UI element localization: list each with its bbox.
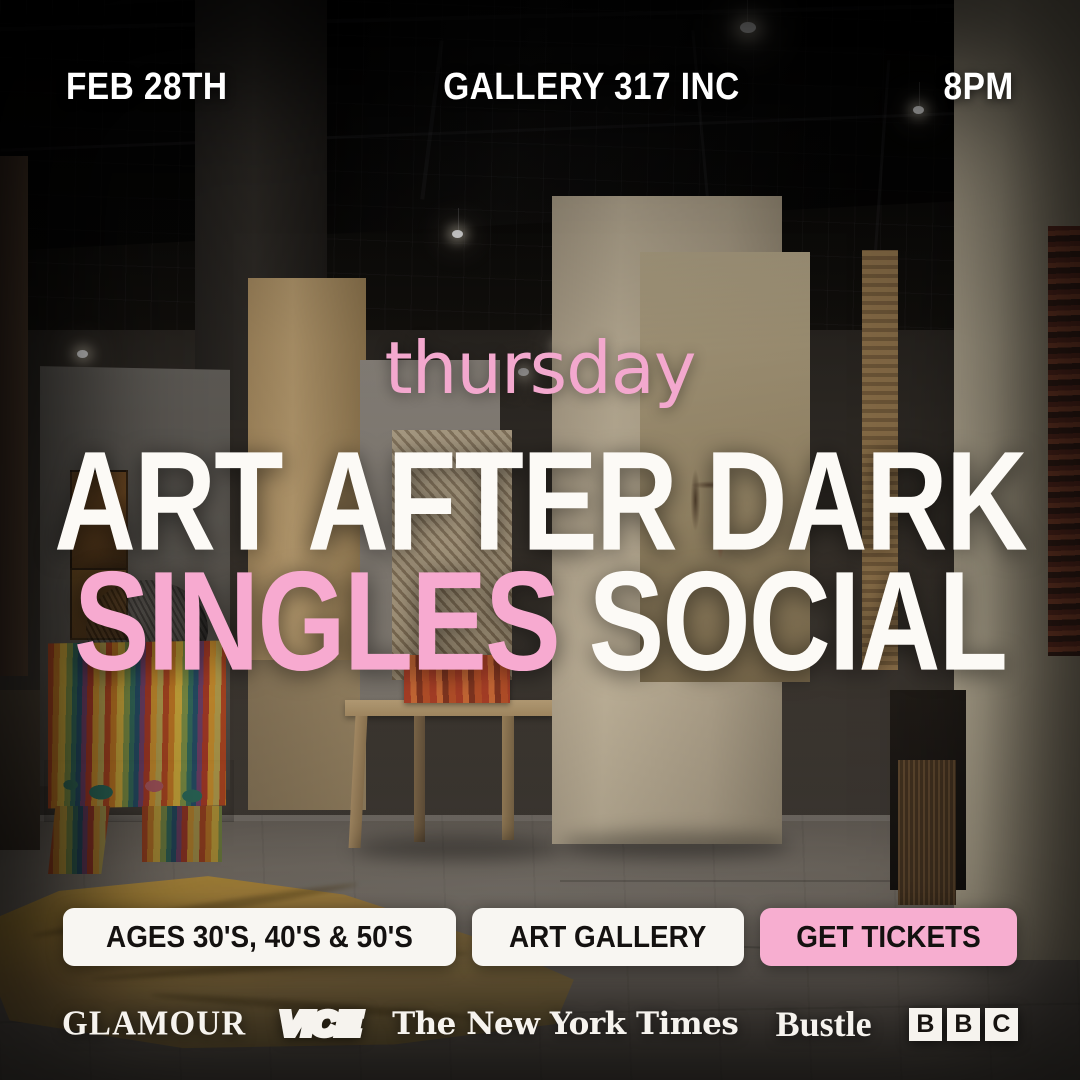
headline-singles: SINGLES (74, 542, 559, 700)
bbc-letter-3: C (985, 1008, 1018, 1041)
thursday-wordmark: thursday (384, 336, 695, 401)
headline-social: SOCIAL (589, 542, 1006, 700)
poster-header: FEB 28TH GALLERY 317 INC 8PM (0, 58, 1080, 116)
vice-logo: VICE (279, 1005, 359, 1043)
event-poster: FEB 28TH GALLERY 317 INC 8PM thursday AR… (0, 0, 1080, 1080)
get-tickets-label: GET TICKETS (796, 919, 980, 955)
bbc-logo: B B C (909, 1008, 1018, 1041)
brand-logo: thursday (0, 336, 1080, 401)
event-date: FEB 28TH (66, 66, 227, 109)
event-venue: GALLERY 317 INC (444, 66, 740, 109)
pill-ages[interactable]: AGES 30'S, 40'S & 50'S (63, 908, 456, 966)
pill-venue-type-label: ART GALLERY (509, 919, 706, 955)
event-time: 8PM (944, 66, 1014, 109)
bustle-logo: Bustle (776, 1003, 872, 1045)
poster-headline: ART AFTER DARK SINGLES SOCIAL (0, 436, 1080, 668)
new-york-times-logo: The New York Times (392, 1006, 738, 1042)
press-logo-row: GLAMOUR VICE The New York Times Bustle B… (0, 998, 1080, 1050)
pill-venue-type[interactable]: ART GALLERY (472, 908, 743, 966)
bbc-letter-2: B (947, 1008, 980, 1041)
poster-pill-row: AGES 30'S, 40'S & 50'S ART GALLERY GET T… (0, 908, 1080, 966)
glamour-logo: GLAMOUR (62, 1004, 246, 1043)
get-tickets-button[interactable]: GET TICKETS (760, 908, 1017, 966)
poster-content: FEB 28TH GALLERY 317 INC 8PM thursday AR… (0, 0, 1080, 1080)
bbc-letter-1: B (909, 1008, 942, 1041)
headline-line-2: SINGLES SOCIAL (38, 556, 1042, 686)
pill-ages-label: AGES 30'S, 40'S & 50'S (106, 919, 413, 955)
